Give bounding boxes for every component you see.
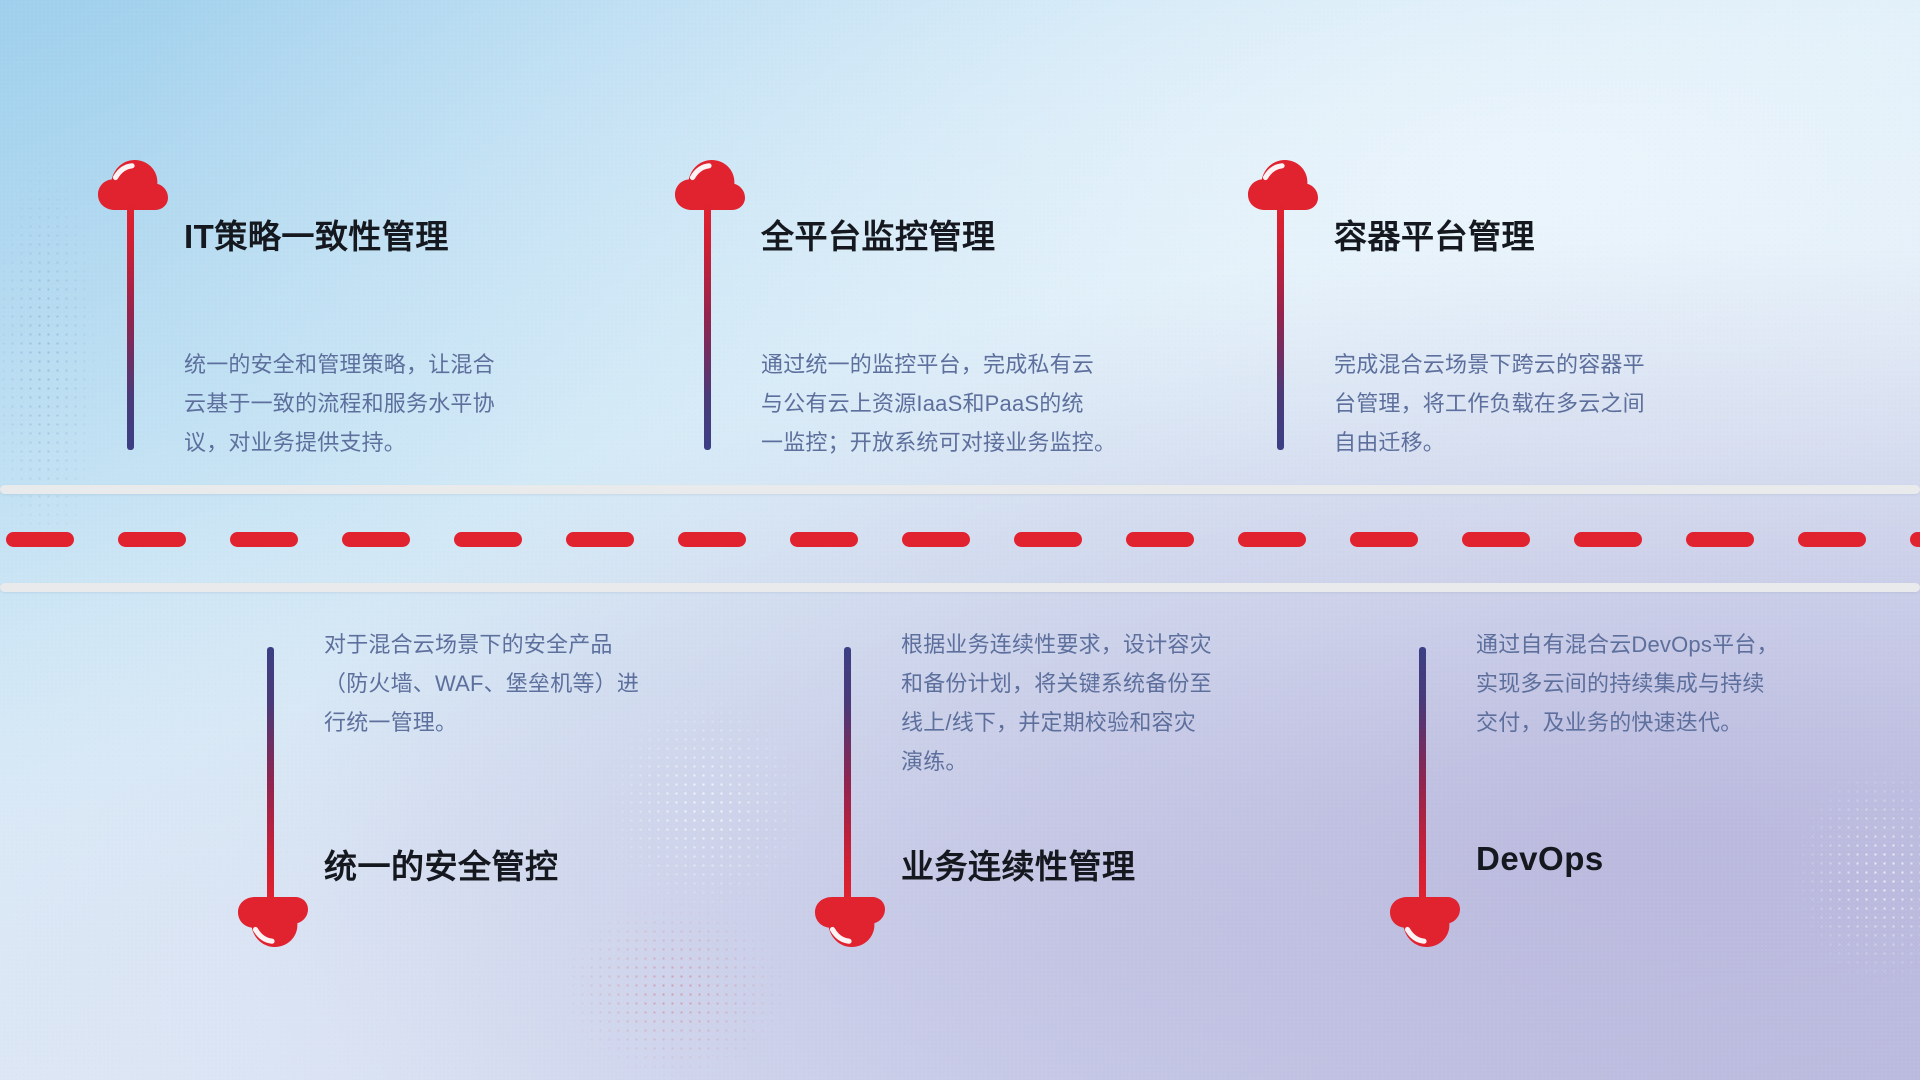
body-line: 议，对业务提供支持。 [184,423,564,462]
body-line: 一监控；开放系统可对接业务监控。 [761,423,1141,462]
road-dash [6,532,74,547]
road-dash [1686,532,1754,547]
road-dash [902,532,970,547]
body-line: 通过自有混合云DevOps平台， [1476,625,1856,664]
top-column-2-title: 全平台监控管理 [761,210,996,258]
body-line: 线上/线下，并定期校验和容灾 [901,703,1281,742]
connector-stem [1419,647,1426,903]
connector-stem [127,204,134,450]
body-line: （防火墙、WAF、堡垒机等）进 [324,664,704,703]
road-dash [1014,532,1082,547]
top-column-3-title: 容器平台管理 [1334,210,1535,258]
body-line: 完成混合云场景下跨云的容器平 [1334,345,1714,384]
top-column-3-body: 完成混合云场景下跨云的容器平 台管理，将工作负载在多云之间 自由迁移。 [1334,345,1714,462]
road-edge-bottom [0,583,1920,592]
dot-cluster-red [560,900,790,1080]
body-line: 与公有云上资源IaaS和PaaS的统 [761,384,1141,423]
bottom-column-2-body: 根据业务连续性要求，设计容灾 和备份计划，将关键系统备份至 线上/线下，并定期校… [901,625,1281,781]
body-line: 交付，及业务的快速迭代。 [1476,703,1856,742]
body-line: 和备份计划，将关键系统备份至 [901,664,1281,703]
road-dash [1462,532,1530,547]
cloud-icon [238,895,308,947]
road-dash [1126,532,1194,547]
road-center-dashes [0,532,1920,547]
bottom-column-2-title: 业务连续性管理 [901,840,1136,888]
road-dash [454,532,522,547]
bottom-column-3-title: DevOps [1476,840,1604,878]
bottom-column-1-title: 统一的安全管控 [324,840,559,888]
top-column-2-body: 通过统一的监控平台，完成私有云 与公有云上资源IaaS和PaaS的统 一监控；开… [761,345,1141,462]
road-dash [230,532,298,547]
body-line: 统一的安全和管理策略，让混合 [184,345,564,384]
infographic-canvas: IT策略一致性管理 统一的安全和管理策略，让混合 云基于一致的流程和服务水平协 … [0,0,1920,1080]
connector-stem [1277,204,1284,450]
road-divider [0,485,1920,595]
road-dash [1910,532,1920,547]
road-dash [566,532,634,547]
body-line: 台管理，将工作负载在多云之间 [1334,384,1714,423]
body-line: 实现多云间的持续集成与持续 [1476,664,1856,703]
road-edge-top [0,485,1920,494]
road-dash [342,532,410,547]
road-dash [1798,532,1866,547]
bottom-column-3-body: 通过自有混合云DevOps平台， 实现多云间的持续集成与持续 交付，及业务的快速… [1476,625,1856,742]
top-column-1-body: 统一的安全和管理策略，让混合 云基于一致的流程和服务水平协 议，对业务提供支持。 [184,345,564,462]
connector-stem [267,647,274,903]
body-line: 演练。 [901,742,1281,781]
road-dash [1238,532,1306,547]
body-line: 通过统一的监控平台，完成私有云 [761,345,1141,384]
body-line: 云基于一致的流程和服务水平协 [184,384,564,423]
connector-stem [844,647,851,903]
body-line: 行统一管理。 [324,703,704,742]
bottom-column-1-body: 对于混合云场景下的安全产品 （防火墙、WAF、堡垒机等）进 行统一管理。 [324,625,704,742]
road-dash [678,532,746,547]
dot-cluster-right [1790,760,1920,990]
road-dash [1574,532,1642,547]
body-line: 自由迁移。 [1334,423,1714,462]
road-dash [1350,532,1418,547]
road-dash [118,532,186,547]
body-line: 对于混合云场景下的安全产品 [324,625,704,664]
cloud-icon [815,895,885,947]
connector-stem [704,204,711,450]
cloud-icon [1390,895,1460,947]
body-line: 根据业务连续性要求，设计容灾 [901,625,1281,664]
top-column-1-title: IT策略一致性管理 [184,210,449,258]
road-dash [790,532,858,547]
